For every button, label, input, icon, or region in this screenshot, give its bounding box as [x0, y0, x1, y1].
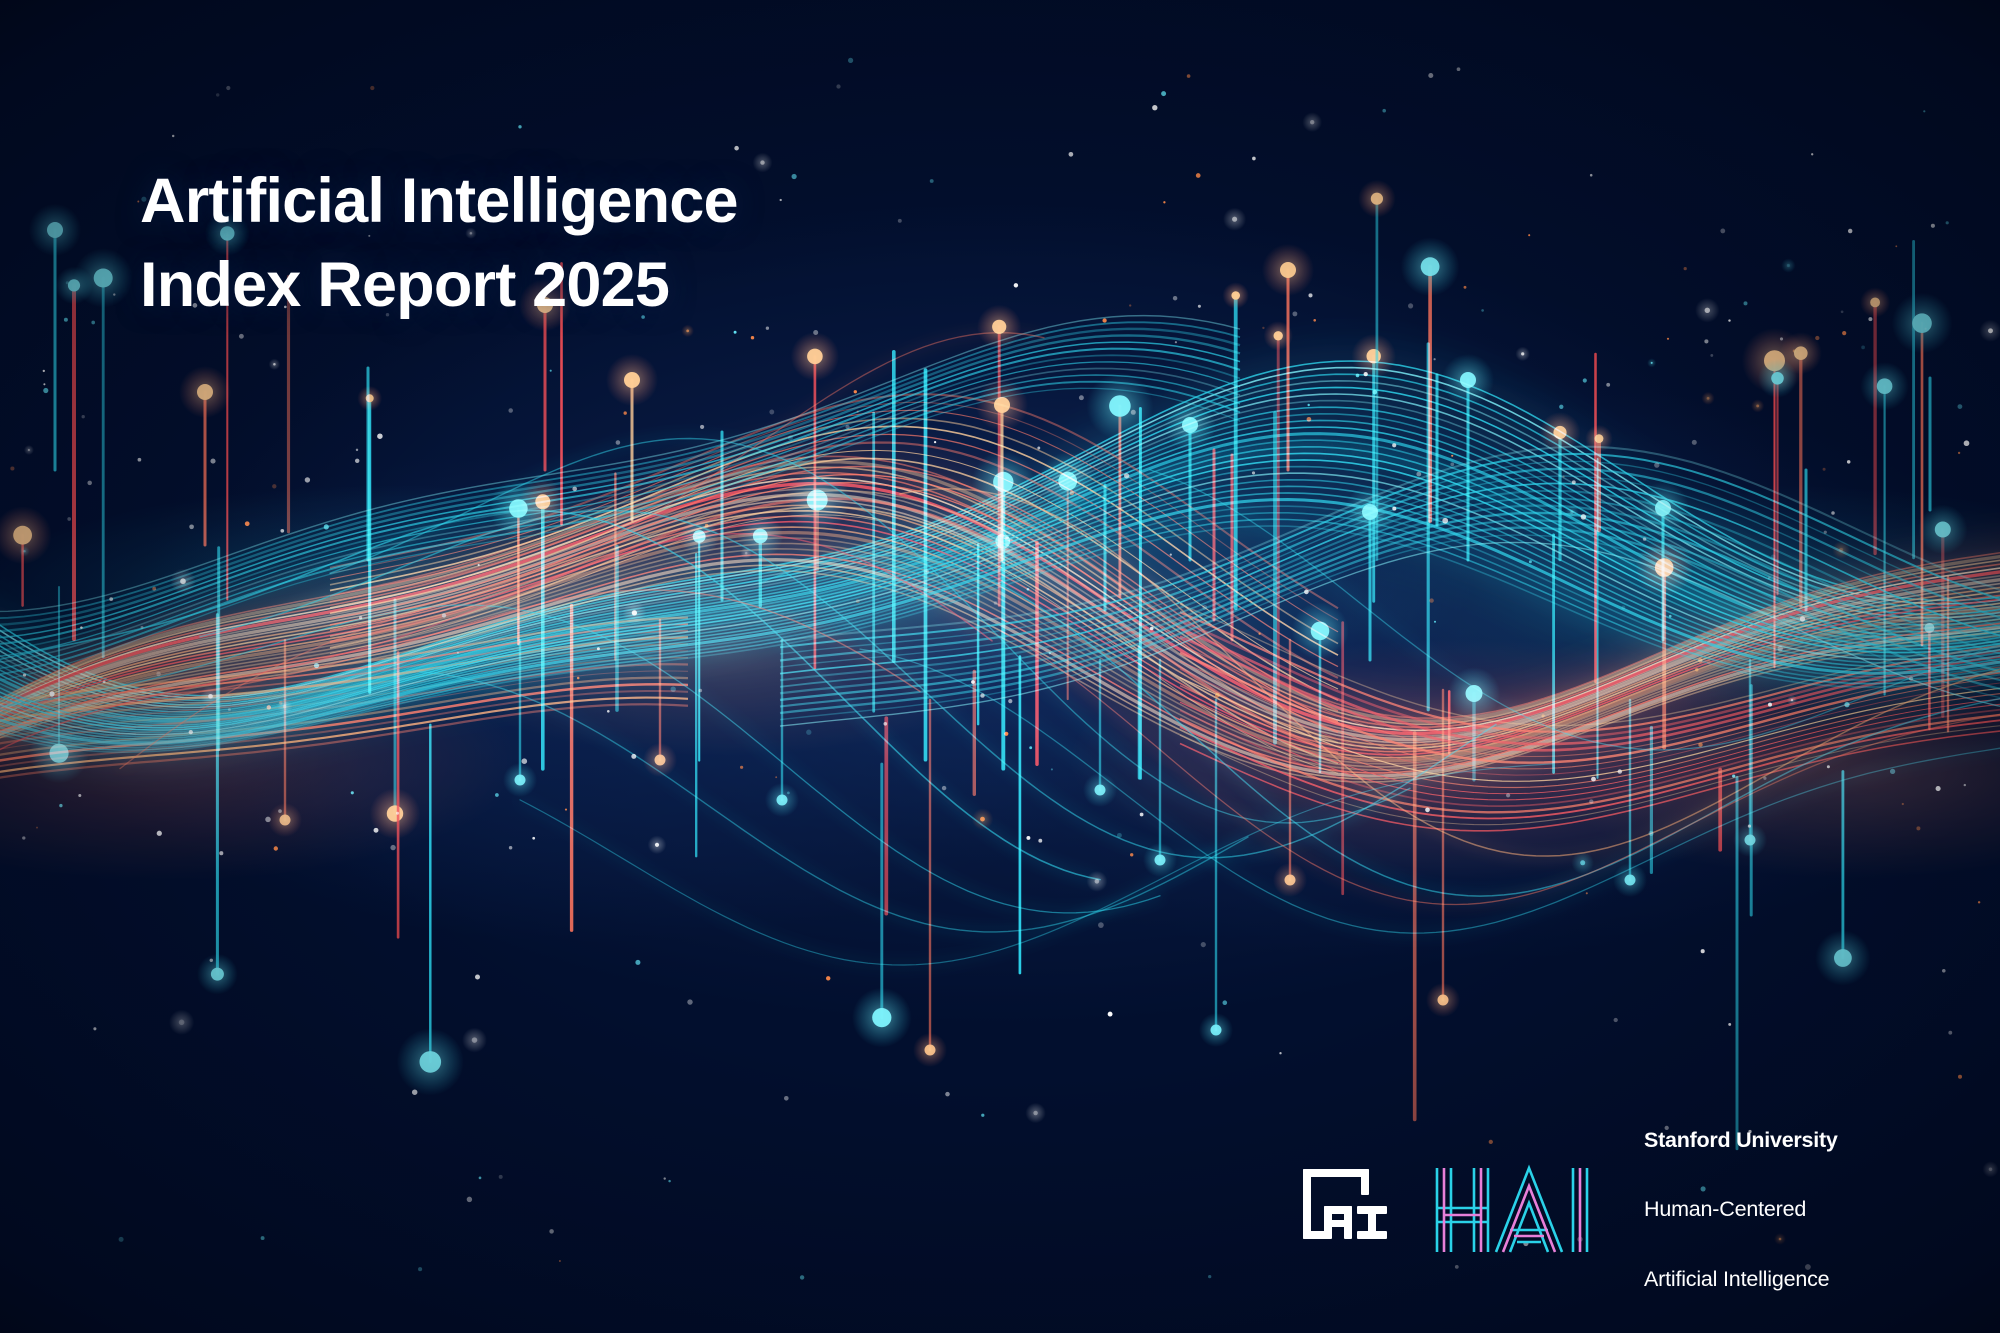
page-title-line-1: Artificial Intelligence: [140, 160, 738, 244]
report-cover: Artificial IntelligenceIndex Report 2025: [0, 0, 2000, 1333]
hai-logo: [1432, 1164, 1617, 1256]
org-line-stanford-university: Stanford University: [1644, 1127, 1838, 1155]
org-line-artificial-intelligence: Artificial Intelligence: [1644, 1266, 1838, 1294]
page-title: Artificial IntelligenceIndex Report 2025: [140, 160, 738, 328]
logo-lockup: Stanford University Human-Centered Artif…: [1300, 1085, 1838, 1333]
organization-text: Stanford University Human-Centered Artif…: [1644, 1085, 1838, 1333]
page-title-line-2: Index Report 2025: [140, 244, 738, 328]
org-line-human-centered: Human-Centered: [1644, 1196, 1838, 1224]
ai-index-logo: [1300, 1166, 1390, 1254]
